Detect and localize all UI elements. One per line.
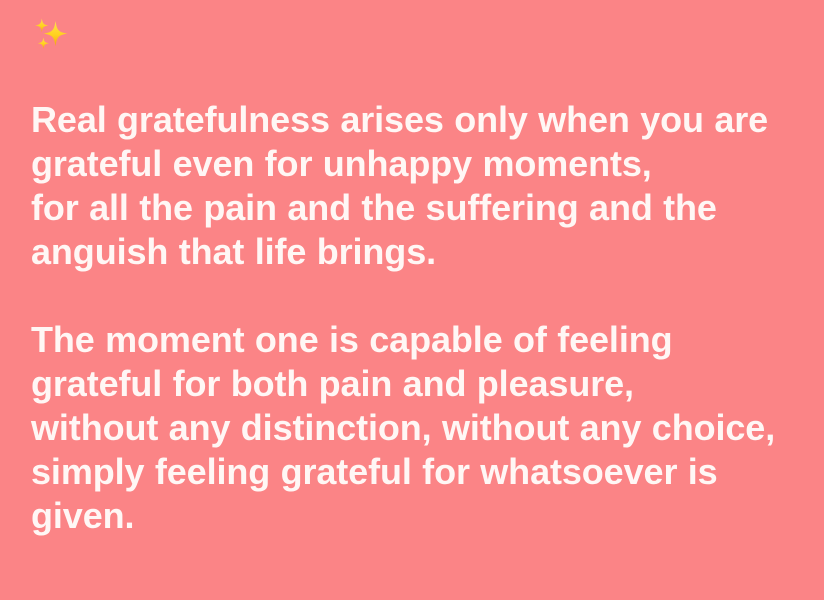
paragraph-spacer (31, 274, 807, 318)
quote-paragraph-2: The moment one is capable of feeling gra… (31, 318, 807, 538)
quote-card: Real gratefulness arises only when you a… (0, 0, 824, 600)
sparkles-icon (28, 13, 74, 59)
quote-text-block: Real gratefulness arises only when you a… (31, 98, 807, 538)
decoration-row (28, 8, 74, 64)
quote-paragraph-1: Real gratefulness arises only when you a… (31, 98, 807, 274)
